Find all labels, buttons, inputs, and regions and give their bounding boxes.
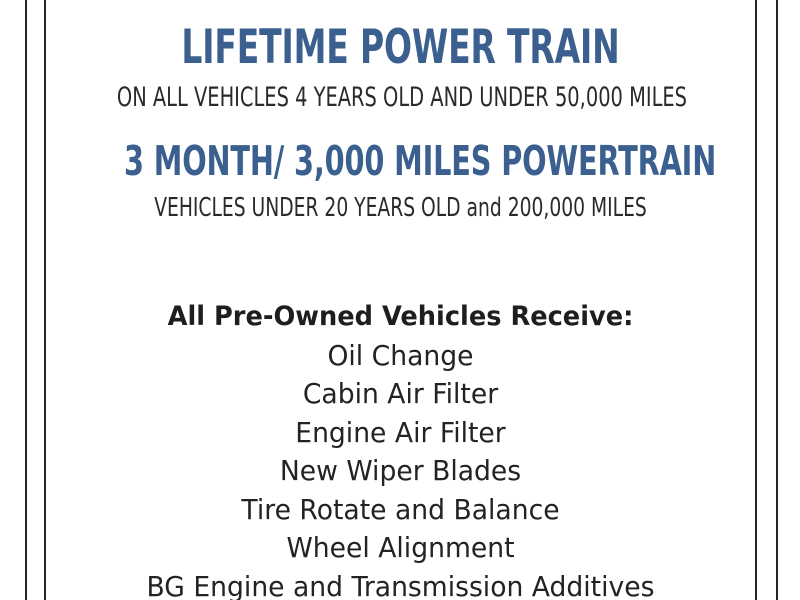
right-inner-border-rule [755, 0, 757, 600]
left-outer-border-rule [25, 0, 27, 600]
warranty-headline-three-month: 3 MONTH/ 3,000 MILES POWERTRAIN [124, 141, 677, 186]
warranty-headline-lifetime: LIFETIME POWER TRAIN [124, 24, 677, 75]
services-section: All Pre-Owned Vehicles Receive: Oil Chan… [46, 298, 755, 600]
warranty-offer-three-month: 3 MONTH/ 3,000 MILES POWERTRAIN VEHICLES… [46, 141, 755, 222]
warranty-subline-three-month: VEHICLES UNDER 20 YEARS OLD and 200,000 … [117, 195, 684, 222]
list-item: Tire Rotate and Balance [64, 491, 738, 530]
right-outer-border-rule [776, 0, 778, 600]
list-item: Engine Air Filter [64, 414, 738, 453]
warranty-offer-lifetime: LIFETIME POWER TRAIN ON ALL VEHICLES 4 Y… [46, 24, 755, 112]
services-list: Oil Change Cabin Air Filter Engine Air F… [46, 337, 755, 600]
list-item: Wheel Alignment [64, 529, 738, 568]
warranty-subline-lifetime: ON ALL VEHICLES 4 YEARS OLD AND UNDER 50… [117, 84, 684, 112]
list-item: Oil Change [64, 337, 738, 376]
flyer-content: LIFETIME POWER TRAIN ON ALL VEHICLES 4 Y… [46, 0, 755, 600]
list-item: BG Engine and Transmission Additives [64, 568, 738, 600]
list-item: New Wiper Blades [64, 452, 738, 491]
list-item: Cabin Air Filter [64, 375, 738, 414]
services-heading: All Pre-Owned Vehicles Receive: [64, 298, 738, 337]
warranty-flyer: LIFETIME POWER TRAIN ON ALL VEHICLES 4 Y… [0, 0, 800, 600]
